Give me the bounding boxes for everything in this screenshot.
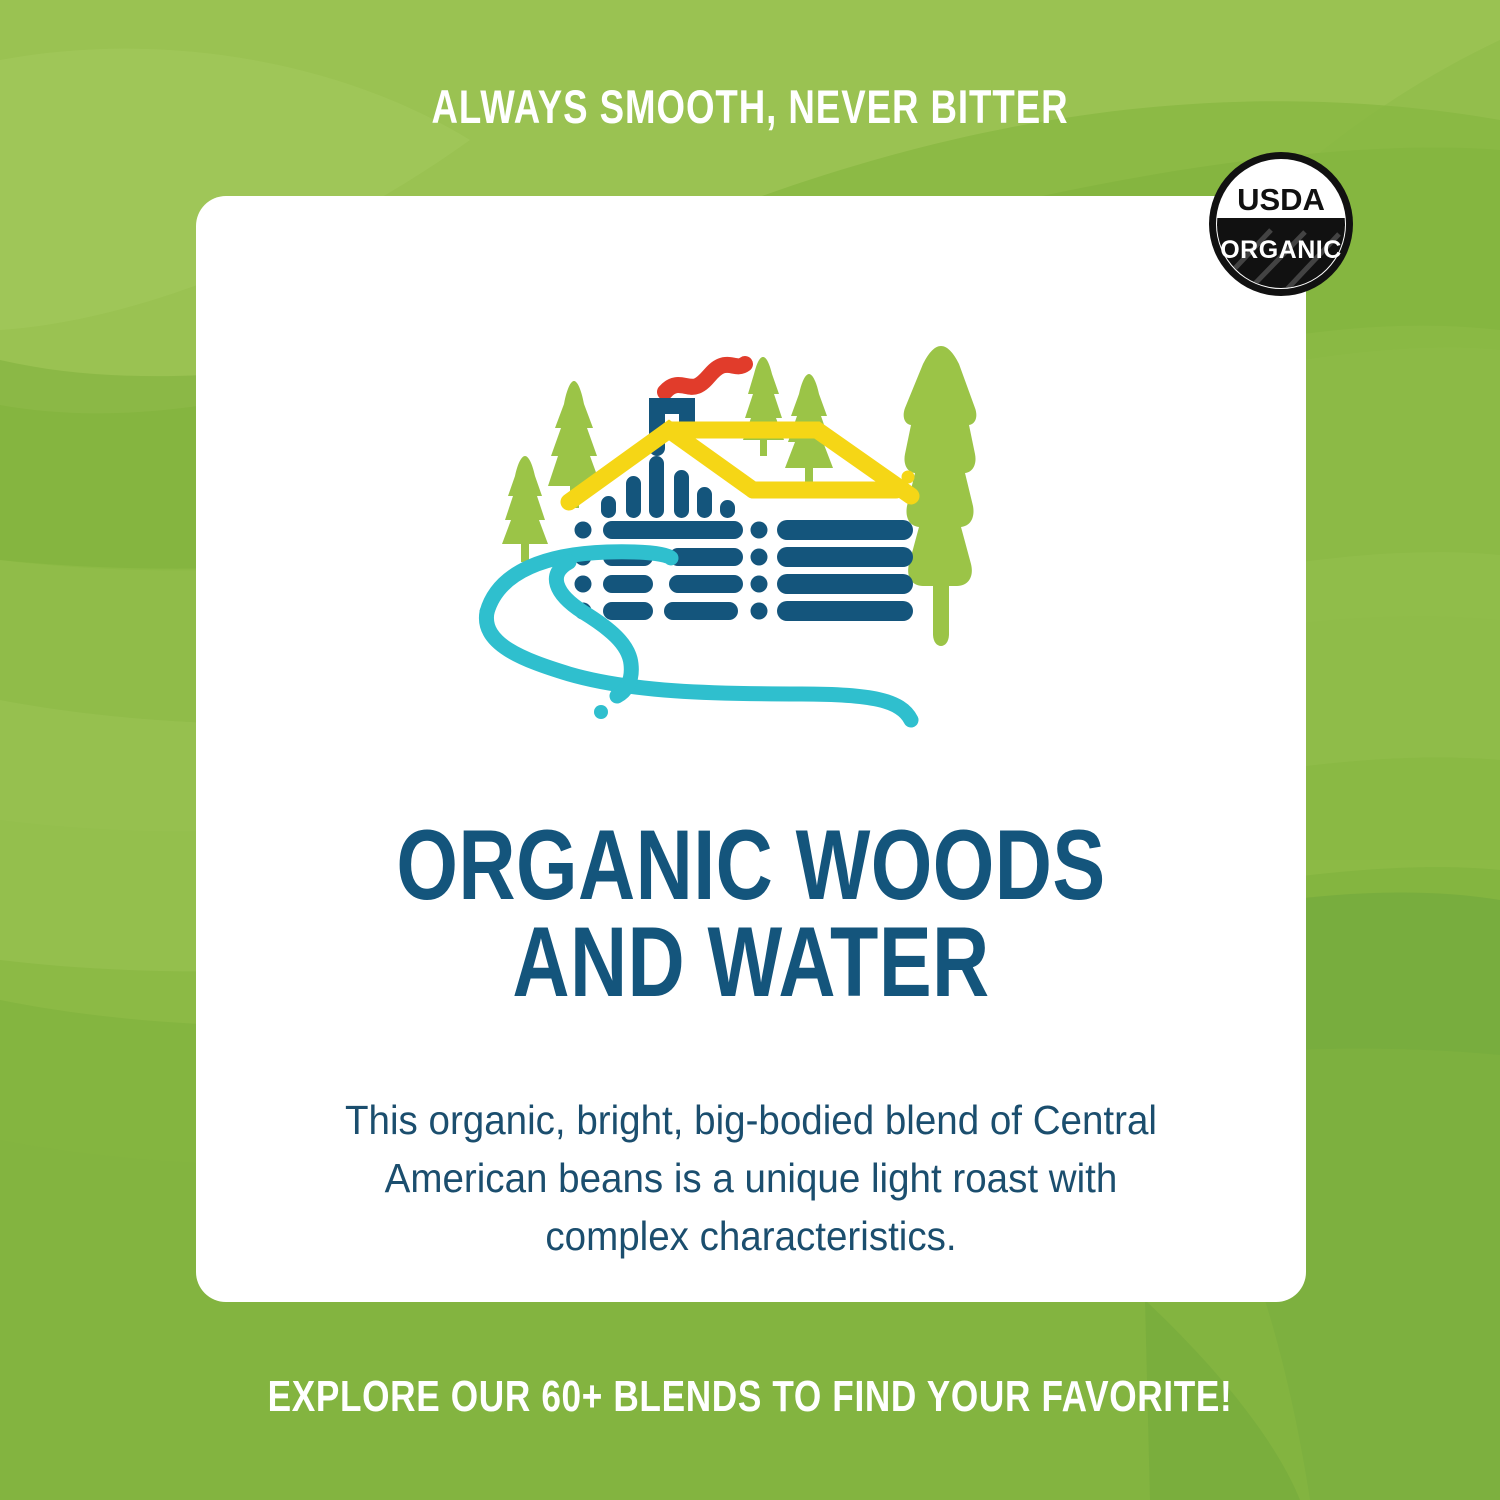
- usda-seal-top-text: USDA: [1237, 182, 1325, 217]
- product-title-line-1: ORGANIC WOODS: [307, 816, 1195, 913]
- headline-strapline: ALWAYS SMOOTH, NEVER BITTER: [165, 80, 1335, 134]
- roof-icon: [569, 430, 915, 502]
- product-title-line-2: AND WATER: [307, 913, 1195, 1010]
- product-card: ORGANIC WOODS AND WATER This organic, br…: [196, 196, 1306, 1302]
- product-description: This organic, bright, big-bodied blend o…: [328, 1091, 1174, 1266]
- footer-cta: EXPLORE OUR 60+ BLENDS TO FIND YOUR FAVO…: [150, 1372, 1350, 1422]
- pine-tree-icon: [743, 357, 784, 456]
- pine-tree-icon: [502, 456, 548, 562]
- smoke-icon: [665, 364, 745, 392]
- brand-logo: [471, 344, 1031, 744]
- usda-seal-bottom-text: ORGANIC: [1220, 236, 1342, 264]
- page-title: ORGANIC WOODS AND WATER: [196, 816, 1306, 1010]
- usda-organic-seal: USDA ORGANIC: [1205, 148, 1357, 300]
- cabin-wall-logs: [575, 520, 914, 621]
